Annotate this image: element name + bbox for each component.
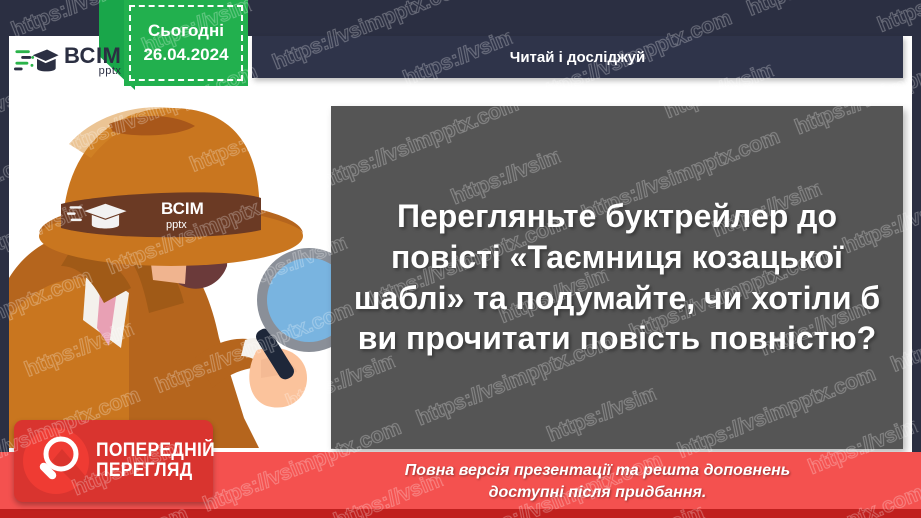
left-frame-bar: [0, 0, 9, 518]
svg-text:pptx: pptx: [166, 219, 187, 231]
preview-badge-line2: ПЕРЕГЛЯД: [96, 461, 215, 481]
date-badge: Сьогодні 26.04.2024: [124, 0, 248, 86]
slide-title-bar: Читай і досліджуй: [252, 36, 903, 78]
detective-illustration: ВСІМ pptx: [9, 88, 339, 448]
preview-badge: ПОПЕРЕДНІЙ ПЕРЕГЛЯД: [14, 420, 213, 502]
svg-text:ВСІМ: ВСІМ: [161, 199, 204, 218]
slide-canvas: ВСІМ pptx ВСІМ pptx С: [0, 0, 921, 518]
logo-title: ВСІМ: [64, 45, 121, 67]
purchase-notice-line1: Повна версія презентації та решта доповн…: [290, 460, 905, 482]
preview-badge-line1: ПОПЕРЕДНІЙ: [96, 441, 215, 461]
date-badge-value: 26.04.2024: [143, 45, 228, 65]
slide-title: Читай і досліджуй: [510, 49, 645, 66]
purchase-notice-text: Повна версія презентації та решта доповн…: [290, 460, 905, 503]
content-panel: Перегляньте буктрейлер до повісті «Таємн…: [331, 106, 903, 449]
banner-bottom-strip: [0, 509, 921, 518]
magnifier-icon: [22, 427, 90, 495]
content-text: Перегляньте буктрейлер до повісті «Таємн…: [345, 196, 889, 360]
brand-logo: ВСІМ pptx: [14, 38, 126, 84]
graduation-cap-icon: [14, 43, 60, 79]
purchase-notice-line2: доступні після придбання.: [290, 482, 905, 504]
right-frame-bar: [912, 0, 921, 518]
date-badge-label: Сьогодні: [148, 21, 224, 41]
preview-badge-label: ПОПЕРЕДНІЙ ПЕРЕГЛЯД: [96, 441, 215, 481]
